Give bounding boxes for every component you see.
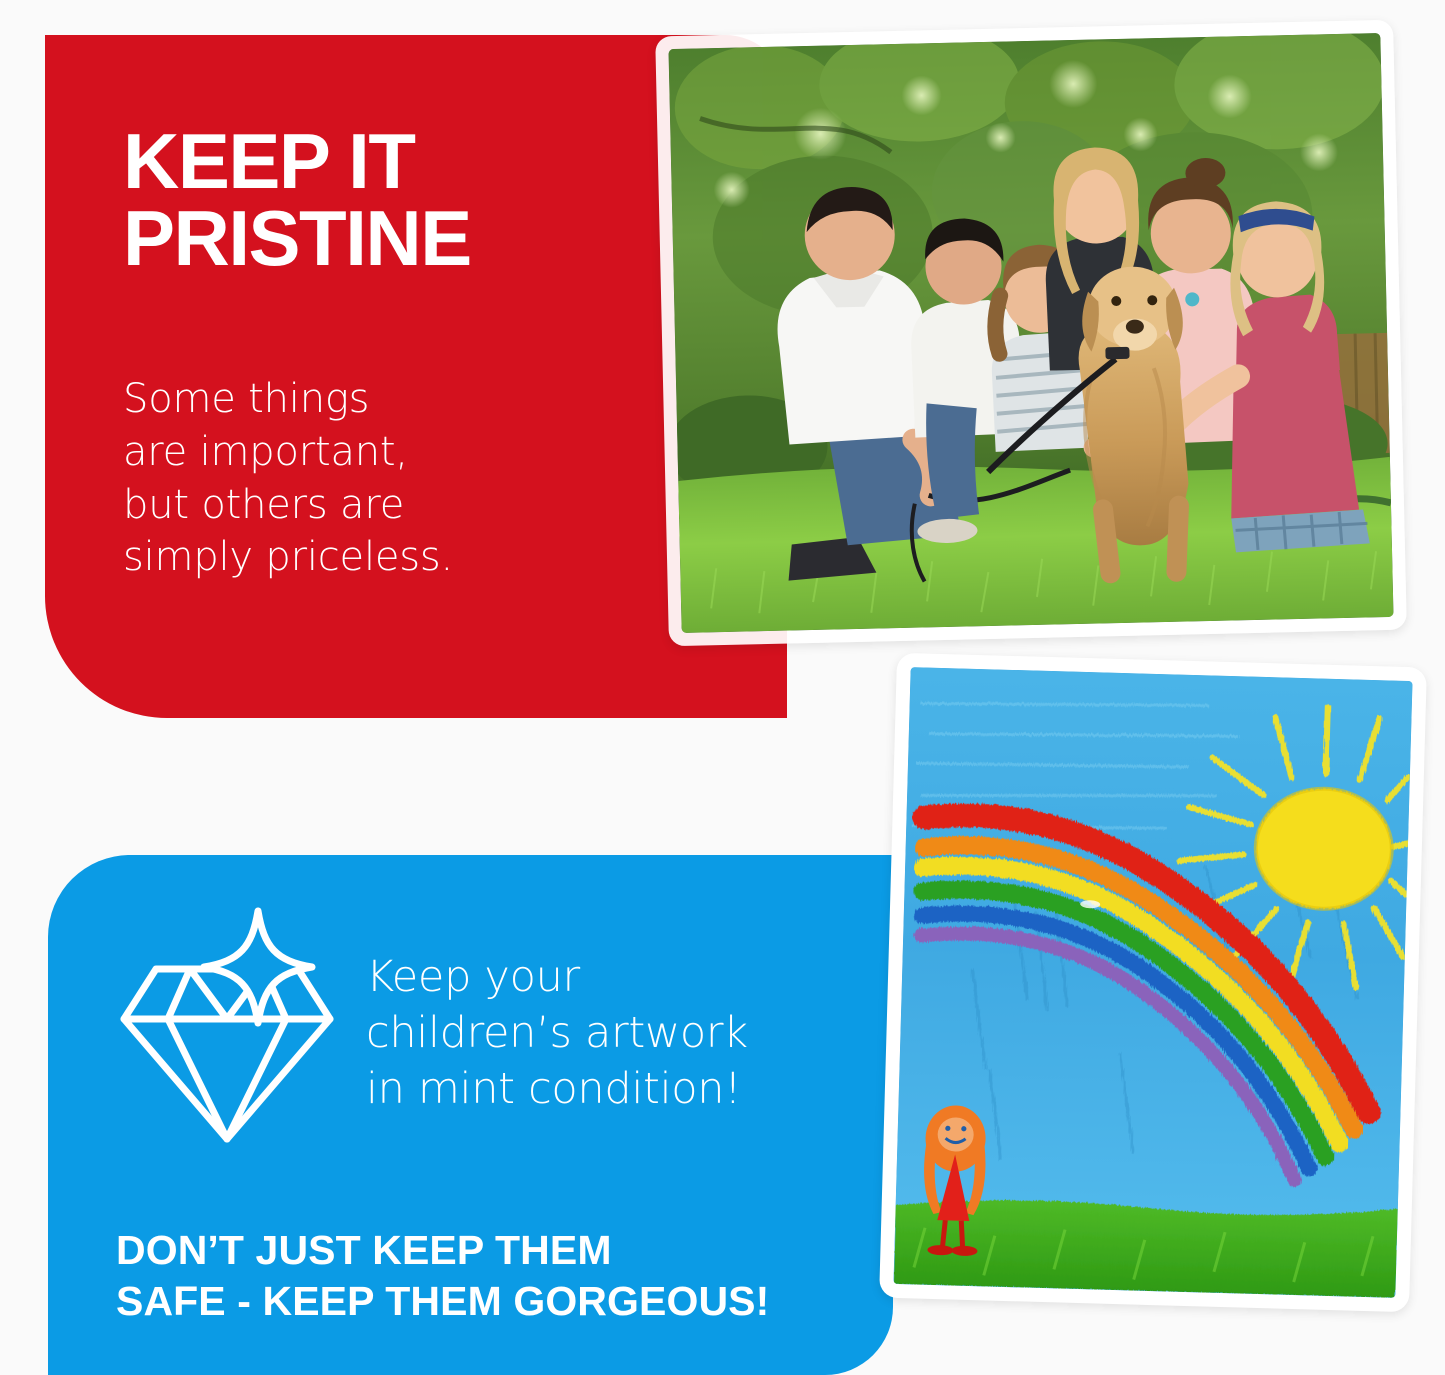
blue-body-line-2: children’s artwork [366, 1006, 886, 1062]
family-with-golden-retriever-on-lawn-photo [655, 20, 1407, 647]
blue-cta-line-2: SAFE - KEEP THEM GORGEOUS! [116, 1276, 886, 1327]
red-headline-line-1: KEEP IT [123, 123, 683, 200]
red-panel-body: Some things are important, but others ar… [123, 373, 683, 584]
diamond-gem-sparkle-icon [112, 903, 342, 1153]
blue-panel-body: Keep your children’s artwork in mint con… [366, 950, 886, 1118]
red-headline-line-2: PRISTINE [123, 200, 683, 277]
blue-body-line-3: in mint condition! [366, 1062, 886, 1118]
red-body-line-2: are important, [123, 426, 683, 479]
blue-body-line-1: Keep your [366, 950, 886, 1006]
blue-feature-panel: Keep your children’s artwork in mint con… [48, 855, 893, 1375]
infographic-canvas: KEEP IT PRISTINE Some things are importa… [0, 0, 1445, 1375]
photo-image-family [668, 33, 1393, 633]
red-body-line-4: simply priceless. [123, 531, 683, 584]
photo-image-artwork [893, 667, 1412, 1298]
blue-cta-line-1: DON’T JUST KEEP THEM [116, 1225, 886, 1276]
blue-panel-cta: DON’T JUST KEEP THEM SAFE - KEEP THEM GO… [116, 1225, 886, 1327]
photo-frame-family [655, 20, 1407, 647]
red-panel-headline: KEEP IT PRISTINE [123, 123, 683, 277]
red-body-line-1: Some things [123, 373, 683, 426]
childs-crayon-rainbow-drawing-photo [879, 653, 1427, 1313]
photo-frame-artwork [879, 653, 1427, 1313]
red-body-line-3: but others are [123, 479, 683, 532]
